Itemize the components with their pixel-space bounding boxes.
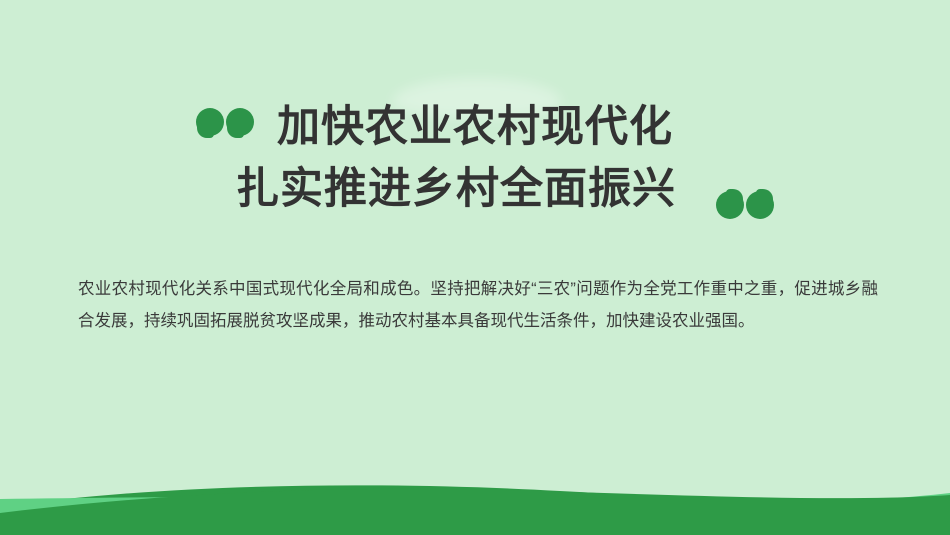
- headline-line-1: 加快农业农村现代化: [0, 96, 950, 158]
- body-paragraph: 农业农村现代化关系中国式现代化全局和成色。坚持把解决好“三农”问题作为全党工作重…: [78, 273, 878, 337]
- quote-close-dot-1: [746, 191, 774, 219]
- headline-block: 加快农业农村现代化 扎实推进乡村全面振兴: [0, 96, 950, 246]
- headline-line-2: 扎实推进乡村全面振兴: [0, 158, 950, 220]
- quote-close-dot-2: [716, 191, 744, 219]
- page-title: 加快农业农村现代化 扎实推进乡村全面振兴: [0, 96, 950, 220]
- bottom-wave-decoration: [0, 455, 950, 535]
- slide-canvas: 加快农业农村现代化 扎实推进乡村全面振兴 农业农村现代化关系中国式现代化全局和成…: [0, 0, 950, 535]
- double-quote-close-icon: [712, 179, 774, 219]
